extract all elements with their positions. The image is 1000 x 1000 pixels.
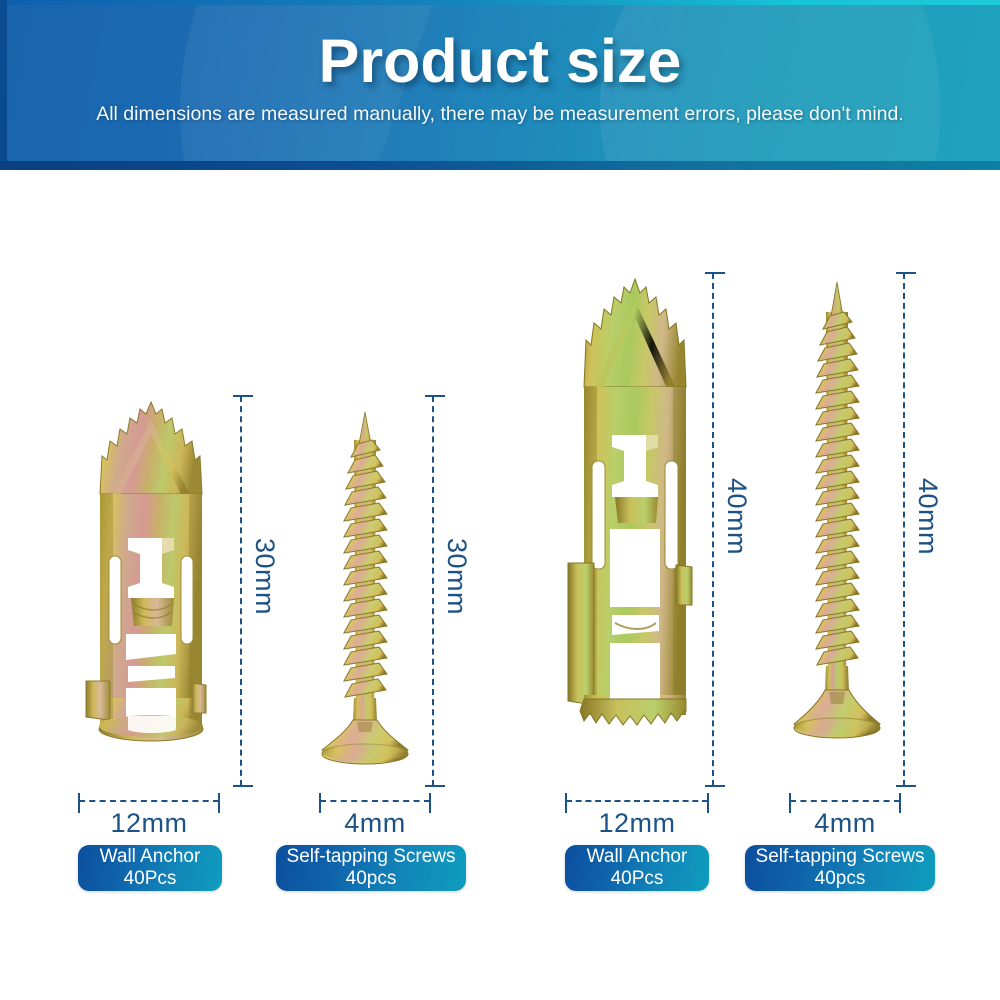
wall-anchor-30-pill-label[interactable]: Wall Anchor 40Pcs [78, 845, 222, 891]
dimension-cap-top [233, 395, 253, 397]
wall-anchor-30-width-label: 12mm [79, 808, 219, 839]
page-subtitle: All dimensions are measured manually, th… [0, 103, 1000, 126]
dimension-cap-top [896, 272, 916, 274]
header-banner: Product size All dimensions are measured… [0, 0, 1000, 170]
wall-anchor-30-width-dimension-line [79, 800, 219, 802]
pill-line-2: 40pcs [346, 868, 397, 890]
pill-line-1: Self-tapping Screws [287, 846, 456, 868]
page-title: Product size [0, 26, 1000, 96]
wall-anchor-40-image [560, 275, 710, 785]
screw-30-height-label: 30mm [441, 538, 472, 615]
product-stage: 30mm 12mm Wall Anchor 40Pcs [0, 170, 1000, 1000]
screw-40-height-dimension-line [903, 273, 905, 786]
dimension-cap-top [705, 272, 725, 274]
wall-anchor-40-height-label: 40mm [721, 478, 752, 555]
pill-line-1: Wall Anchor [100, 846, 201, 868]
wall-anchor-40-pill-label[interactable]: Wall Anchor 40Pcs [565, 845, 709, 891]
screw-40-width-dimension-line [790, 800, 900, 802]
dimension-cap-bottom [425, 785, 445, 787]
pill-line-2: 40Pcs [611, 868, 664, 890]
dimension-cap-bottom [233, 785, 253, 787]
dimension-cap-bottom [705, 785, 725, 787]
wall-anchor-40-height-dimension-line [712, 273, 714, 786]
screw-40-height-label: 40mm [912, 478, 943, 555]
pill-line-1: Wall Anchor [587, 846, 688, 868]
screw-30-image [310, 410, 420, 790]
wall-anchor-30-height-label: 30mm [249, 538, 280, 615]
wall-anchor-40-width-dimension-line [566, 800, 708, 802]
banner-top-accent [0, 0, 1000, 5]
wall-anchor-30-image [76, 398, 226, 798]
screw-30-pill-label[interactable]: Self-tapping Screws 40pcs [276, 845, 466, 891]
wall-anchor-30-height-dimension-line [240, 396, 242, 786]
screw-40-image [782, 280, 892, 785]
dimension-cap-top [425, 395, 445, 397]
screw-30-height-dimension-line [432, 396, 434, 786]
dimension-cap-bottom [896, 785, 916, 787]
pill-line-2: 40Pcs [124, 868, 177, 890]
screw-40-pill-label[interactable]: Self-tapping Screws 40pcs [745, 845, 935, 891]
pill-line-2: 40pcs [815, 868, 866, 890]
pill-line-1: Self-tapping Screws [756, 846, 925, 868]
screw-30-width-label: 4mm [320, 808, 430, 839]
wall-anchor-40-width-label: 12mm [566, 808, 708, 839]
product-size-infographic: Product size All dimensions are measured… [0, 0, 1000, 1000]
screw-30-width-dimension-line [320, 800, 430, 802]
banner-bottom-accent [0, 161, 1000, 170]
screw-40-width-label: 4mm [790, 808, 900, 839]
